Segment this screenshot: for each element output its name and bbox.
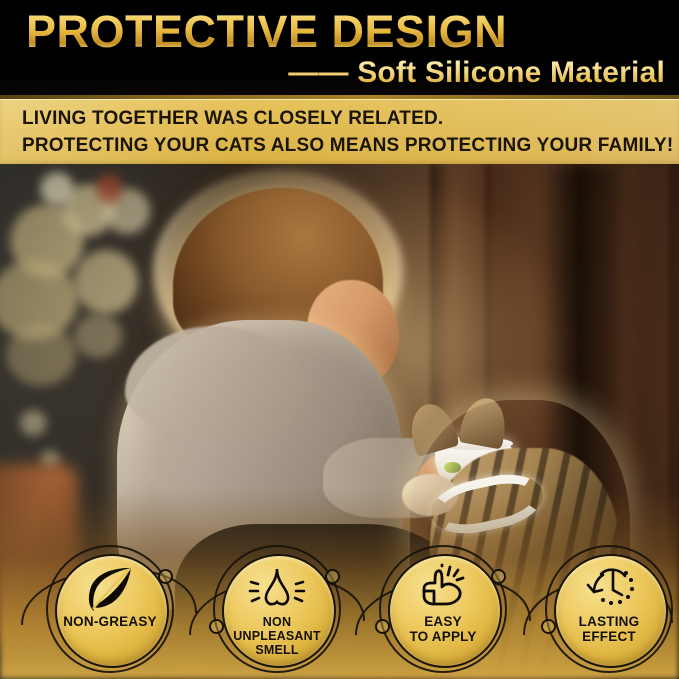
snap-icon [388,559,498,619]
badge-label: LASTING EFFECT [545,615,673,644]
badge-label: NON UNPLEASANT SMELL [213,615,341,657]
badge-node [491,569,506,584]
badge-label: EASY TO APPLY [379,615,507,644]
badge-lasting-effect[interactable]: LASTING EFFECT [545,545,673,673]
bokeh-light [40,172,74,206]
bokeh-light [6,324,76,386]
badge-label-line: EASY [379,615,507,630]
badge-node [541,619,556,634]
badge-label-line: EFFECT [545,630,673,645]
badge-label-line: LASTING [545,615,673,630]
clock-icon [554,559,664,619]
badge-label-line: NON [213,615,341,629]
product-infographic: PROTECTIVE DESIGN —— Soft Silicone Mater… [0,0,679,679]
badge-node [158,569,173,584]
badge-non-unpleasant-smell[interactable]: NON UNPLEASANT SMELL [213,545,341,673]
badge-easy-to-apply[interactable]: EASY TO APPLY [379,545,507,673]
tagline-banner: LIVING TOGETHER WAS CLOSELY RELATED. PRO… [0,99,679,164]
tagline-line-2: PROTECTING YOUR CATS ALSO MEANS PROTECTI… [22,135,673,157]
badge-label-line: UNPLEASANT [213,629,341,643]
badge-non-greasy[interactable]: NON-GREASY [46,545,174,673]
nose-icon [222,559,332,619]
badge-node [325,569,340,584]
header-subtitle: —— Soft Silicone Material [288,58,665,88]
badge-label-line: TO APPLY [379,630,507,645]
badge-node [375,619,390,634]
badge-label-line: SMELL [213,643,341,657]
feature-badges: NON-GREASY NON UNPLEASANT SMELL [0,539,679,679]
badge-node [209,619,224,634]
bokeh-light [20,410,46,436]
header-banner: PROTECTIVE DESIGN —— Soft Silicone Mater… [0,0,679,99]
leaf-icon [55,559,165,619]
tagline-line-1: LIVING TOGETHER WAS CLOSELY RELATED. [22,108,443,130]
badge-label: NON-GREASY [46,615,174,630]
page-title: PROTECTIVE DESIGN [26,9,507,54]
